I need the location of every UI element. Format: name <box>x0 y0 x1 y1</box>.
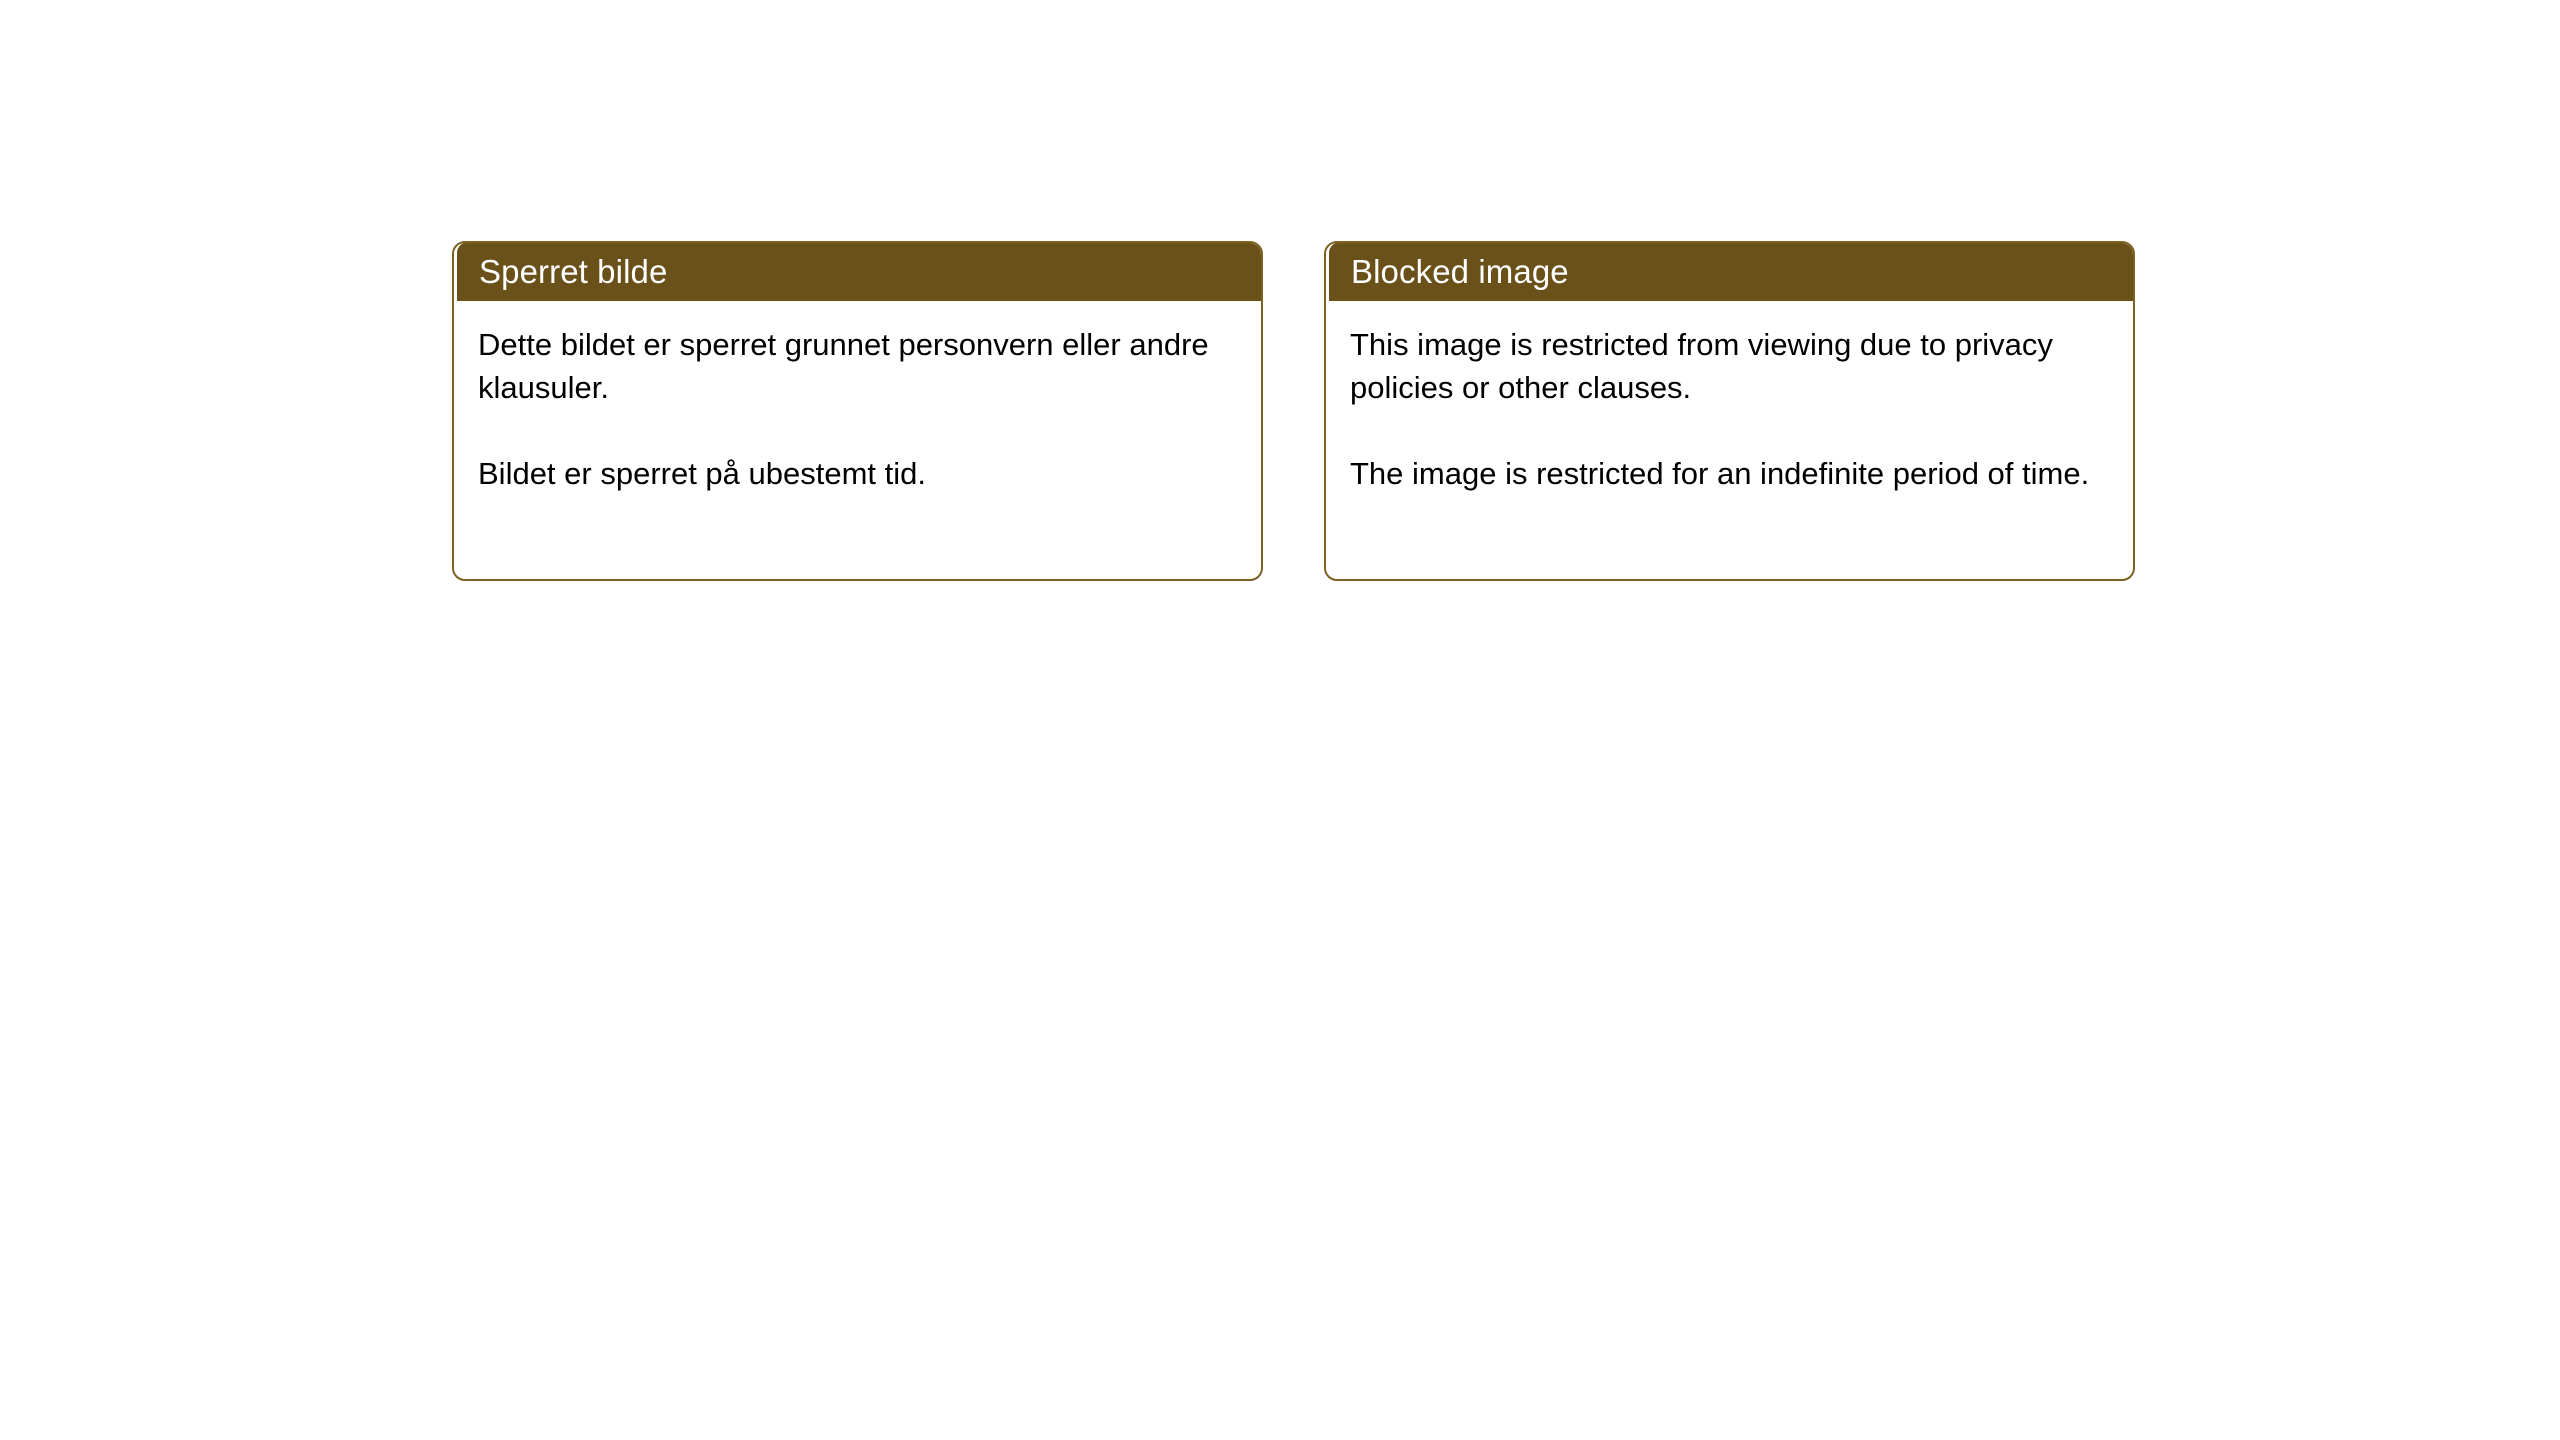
notice-card-body-no: Dette bildet er sperret grunnet personve… <box>454 301 1261 579</box>
notice-card-body-en: This image is restricted from viewing du… <box>1326 301 2133 579</box>
notice-paragraph-reason-no: Dette bildet er sperret grunnet personve… <box>478 323 1235 409</box>
blocked-image-notice-card-no: Sperret bilde Dette bildet er sperret gr… <box>452 241 1263 581</box>
notice-card-title-en: Blocked image <box>1351 255 1569 288</box>
blocked-image-notice-card-en: Blocked image This image is restricted f… <box>1324 241 2135 581</box>
blocked-image-notice-deck: Sperret bilde Dette bildet er sperret gr… <box>452 241 2135 581</box>
notice-card-header-en: Blocked image <box>1329 242 2134 301</box>
notice-card-title-no: Sperret bilde <box>479 255 667 288</box>
notice-card-header-no: Sperret bilde <box>457 242 1262 301</box>
notice-paragraph-duration-no: Bildet er sperret på ubestemt tid. <box>478 452 1235 495</box>
notice-paragraph-duration-en: The image is restricted for an indefinit… <box>1350 452 2107 495</box>
notice-paragraph-reason-en: This image is restricted from viewing du… <box>1350 323 2107 409</box>
